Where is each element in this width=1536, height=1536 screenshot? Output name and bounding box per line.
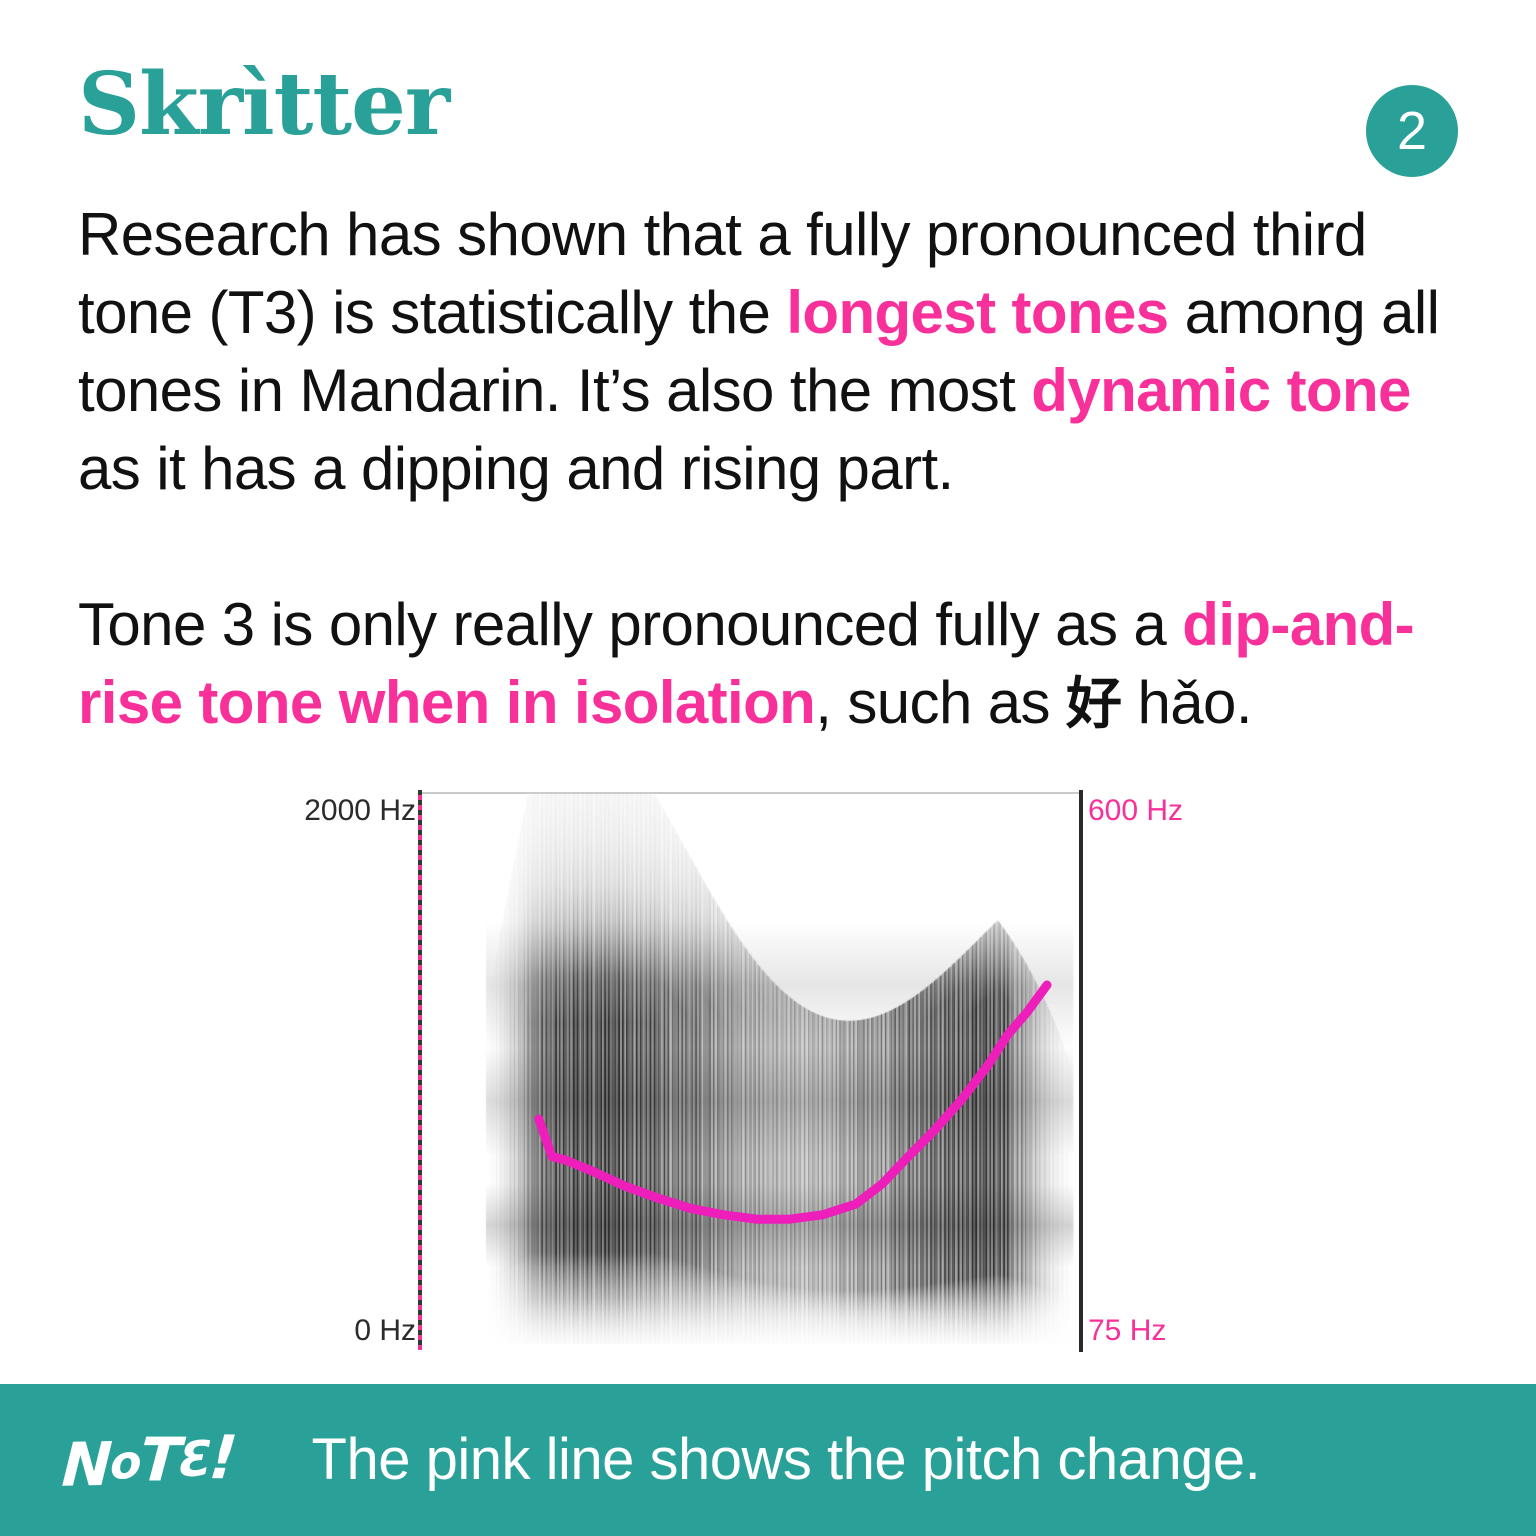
paragraph-2: Tone 3 is only really pronounced fully a… [78, 586, 1468, 744]
note-banner: NoTƐ! The pink line shows the pitch chan… [0, 1384, 1536, 1536]
spectrogram-figure: 2000 Hz 0 Hz 600 Hz 75 Hz [290, 780, 1210, 1360]
axis-label-top-left: 2000 Hz [304, 796, 416, 826]
note-letter-1: N [60, 1435, 111, 1496]
pitch-contour-line [539, 985, 1047, 1219]
note-letter-4: Ɛ [179, 1434, 210, 1484]
body-copy: Research has shown that a fully pronounc… [78, 196, 1468, 744]
note-letter-5: ! [207, 1428, 237, 1489]
hanzi-hao: 好 [1066, 672, 1121, 737]
axis-label-bottom-left: 0 Hz [354, 1316, 416, 1346]
slide-header: Skrìtter 2 [0, 0, 1536, 190]
slide-root: Skrìtter 2 Research has shown that a ful… [0, 0, 1536, 1536]
paragraph-1: Research has shown that a fully pronounc… [78, 196, 1468, 508]
paragraph-1-highlight-b: dynamic tone [1031, 357, 1411, 424]
paragraph-2-text-c: hǎo. [1121, 669, 1251, 736]
paragraph-1-text-c: as it has a dipping and rising part. [78, 435, 954, 502]
note-text: The pink line shows the pitch change. [312, 1431, 1261, 1489]
axis-label-top-right: 600 Hz [1088, 796, 1183, 826]
note-letter-3: T [138, 1430, 181, 1490]
paragraph-1-highlight-a: longest tones [786, 279, 1168, 346]
paragraph-2-text-a: Tone 3 is only really pronounced fully a… [78, 591, 1182, 658]
pitch-contour-overlay [420, 792, 1080, 1344]
plot-area [420, 792, 1080, 1344]
paragraph-2-text-b: , such as [815, 669, 1066, 736]
note-letter-2: o [110, 1438, 140, 1487]
note-badge: NoTƐ! [62, 1425, 236, 1494]
brand-logo: Skrìtter [78, 62, 449, 148]
axis-label-bottom-right: 75 Hz [1088, 1316, 1166, 1346]
page-number-badge: 2 [1366, 85, 1458, 177]
